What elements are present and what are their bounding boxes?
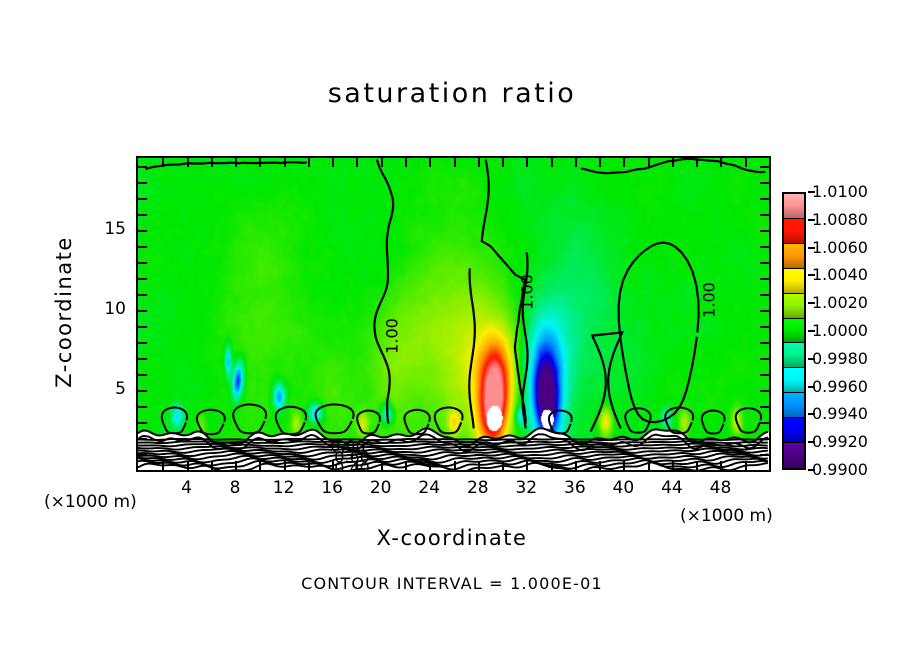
x-axis-tick: [623, 461, 625, 470]
contour-line: [276, 407, 307, 434]
colorbar-tick: [808, 247, 815, 249]
x-axis-tick: [696, 461, 698, 470]
colorbar-tick-label: 1.0080: [812, 210, 868, 229]
y-axis-tick: [760, 166, 769, 168]
y-axis-tick: [138, 310, 147, 312]
colorbar-band: [784, 194, 804, 219]
colorbar-tick-label: 0.9980: [812, 349, 868, 368]
x-tick-label: 44: [649, 478, 695, 498]
x-axis-tick: [720, 158, 722, 167]
contour-label: 1.00: [700, 282, 719, 318]
y-axis-tick: [138, 246, 147, 248]
y-axis-tick: [138, 198, 147, 200]
x-axis-tick: [526, 461, 528, 470]
y-axis-tick: [760, 198, 769, 200]
y-axis-tick: [760, 390, 769, 392]
colorbar-band: [784, 219, 804, 244]
contour-line: [374, 160, 393, 424]
contour-line: [665, 407, 693, 433]
x-axis-tick: [381, 461, 383, 470]
colorbar-tick-label: 0.9960: [812, 377, 868, 396]
y-axis-tick: [760, 342, 769, 344]
colorbar-tick: [808, 191, 815, 193]
x-axis-tick: [696, 158, 698, 167]
contour-line: [138, 428, 768, 446]
x-axis-tick: [211, 158, 213, 167]
y-tick-label: 15: [94, 219, 126, 239]
y-axis-tick: [138, 166, 147, 168]
x-axis-tick: [526, 158, 528, 167]
x-tick-label: 20: [358, 478, 404, 498]
x-axis-tick: [162, 158, 164, 167]
y-axis-title: Z-coordinate: [52, 212, 76, 412]
x-tick-label: 16: [309, 478, 355, 498]
contour-line: [197, 410, 225, 434]
y-axis-tick: [760, 182, 769, 184]
x-units-right: (×1000 m): [680, 506, 773, 526]
contour-line: [549, 411, 572, 434]
contour-line-overlay: [138, 158, 769, 470]
contour-line: [233, 404, 266, 433]
contour-line: [357, 411, 380, 434]
x-axis-tick: [187, 461, 189, 470]
contour-line: [591, 332, 623, 431]
colorbar-band: [784, 294, 804, 319]
x-axis-tick: [454, 158, 456, 167]
y-axis-tick: [760, 294, 769, 296]
x-tick-label: 32: [503, 478, 549, 498]
x-axis-tick: [187, 158, 189, 167]
x-axis-tick: [502, 158, 504, 167]
x-axis-tick: [259, 158, 261, 167]
colorbar-band: [784, 319, 804, 344]
x-axis-tick: [284, 158, 286, 167]
colorbar-tick-label: 0.9920: [812, 432, 868, 451]
y-axis-tick: [138, 342, 147, 344]
contour-line: [702, 411, 725, 434]
contour-line: [145, 162, 306, 169]
x-axis-tick: [308, 461, 310, 470]
x-tick-label: 4: [164, 478, 210, 498]
x-axis-tick: [478, 158, 480, 167]
x-tick-label: 48: [697, 478, 743, 498]
y-axis-tick: [138, 182, 147, 184]
x-axis-tick: [551, 461, 553, 470]
y-axis-tick: [760, 230, 769, 232]
colorbar-tick: [808, 386, 815, 388]
colorbar-tick-label: 1.0060: [812, 238, 868, 257]
y-axis-tick: [138, 326, 147, 328]
contour-plot-area[interactable]: 1.001.001.000.800.600.40: [136, 156, 771, 472]
x-tick-label: 24: [406, 478, 452, 498]
colorbar-band: [784, 269, 804, 294]
colorbar-tick: [808, 441, 815, 443]
y-axis-tick: [760, 422, 769, 424]
y-axis-tick: [138, 230, 147, 232]
contour-line: [162, 407, 187, 433]
y-axis-tick: [760, 438, 769, 440]
contour-line: [619, 243, 699, 423]
page-title: saturation ratio: [0, 78, 904, 109]
x-axis-tick: [745, 158, 747, 167]
x-axis-tick: [405, 158, 407, 167]
colorbar-tick-label: 0.9940: [812, 404, 868, 423]
x-axis-tick: [381, 158, 383, 167]
y-axis-tick: [138, 390, 147, 392]
colorbar-tick: [808, 302, 815, 304]
x-axis-tick: [405, 461, 407, 470]
contour-line: [316, 404, 354, 433]
colorbar[interactable]: [782, 192, 806, 470]
y-tick-label: 5: [94, 379, 126, 399]
x-axis-tick: [745, 461, 747, 470]
y-axis-tick: [138, 262, 147, 264]
x-axis-tick: [575, 158, 577, 167]
x-axis-tick: [429, 158, 431, 167]
x-axis-tick: [284, 461, 286, 470]
colorbar-band: [784, 368, 804, 393]
y-axis-tick: [138, 294, 147, 296]
colorbar-tick-label: 1.0100: [812, 182, 868, 201]
y-axis-tick: [760, 246, 769, 248]
x-tick-label: 40: [600, 478, 646, 498]
x-axis-tick: [235, 461, 237, 470]
y-axis-tick: [138, 422, 147, 424]
y-axis-tick: [760, 262, 769, 264]
x-tick-label: 36: [552, 478, 598, 498]
x-axis-tick: [332, 158, 334, 167]
x-units-left: (×1000 m): [44, 492, 137, 512]
colorbar-tick: [808, 219, 815, 221]
x-axis-tick: [308, 158, 310, 167]
colorbar-tick: [808, 469, 815, 471]
colorbar-band: [784, 244, 804, 269]
colorbar-band: [784, 443, 804, 468]
x-tick-label: 12: [261, 478, 307, 498]
x-axis-tick: [429, 461, 431, 470]
colorbar-band: [784, 393, 804, 418]
y-axis-tick: [138, 454, 147, 456]
x-tick-label: 8: [212, 478, 258, 498]
x-axis-tick: [599, 158, 601, 167]
y-axis-tick: [760, 326, 769, 328]
colorbar-tick-label: 1.0040: [812, 265, 868, 284]
y-axis-tick: [138, 374, 147, 376]
x-axis-tick: [478, 461, 480, 470]
x-axis-tick: [575, 461, 577, 470]
x-axis-tick: [672, 158, 674, 167]
y-axis-tick: [760, 214, 769, 216]
contour-line: [736, 408, 761, 432]
y-axis-tick: [138, 358, 147, 360]
y-axis-tick: [760, 278, 769, 280]
colorbar-tick: [808, 330, 815, 332]
colorbar-band: [784, 418, 804, 443]
x-axis-tick: [720, 461, 722, 470]
contour-line: [404, 410, 429, 434]
x-tick-label: 28: [455, 478, 501, 498]
contour-interval-caption: CONTOUR INTERVAL = 1.000E-01: [0, 574, 904, 593]
y-axis-tick: [760, 454, 769, 456]
contour-line: [435, 407, 463, 433]
contour-line: [469, 268, 475, 428]
colorbar-tick: [808, 413, 815, 415]
y-tick-label: 10: [94, 299, 126, 319]
x-axis-tick: [356, 158, 358, 167]
x-axis-tick: [259, 461, 261, 470]
contour-label: 0.40: [334, 459, 370, 473]
x-axis-tick: [648, 461, 650, 470]
colorbar-tick: [808, 274, 815, 276]
x-axis-tick: [454, 461, 456, 470]
x-axis-tick: [551, 158, 553, 167]
x-axis-tick: [235, 158, 237, 167]
x-axis-tick: [623, 158, 625, 167]
colorbar-tick-label: 1.0020: [812, 293, 868, 312]
y-axis-tick: [138, 438, 147, 440]
colorbar-tick-label: 0.9900: [812, 460, 868, 479]
x-axis-tick: [162, 461, 164, 470]
y-axis-tick: [138, 406, 147, 408]
x-axis-tick: [502, 461, 504, 470]
y-axis-tick: [138, 214, 147, 216]
colorbar-tick-label: 1.0000: [812, 321, 868, 340]
y-axis-tick: [760, 358, 769, 360]
y-axis-tick: [138, 278, 147, 280]
x-axis-tick: [672, 461, 674, 470]
y-axis-tick: [760, 374, 769, 376]
x-axis-tick: [211, 461, 213, 470]
x-axis-tick: [648, 158, 650, 167]
colorbar-band: [784, 343, 804, 368]
colorbar-tick: [808, 358, 815, 360]
x-axis-tick: [599, 461, 601, 470]
x-axis-title: X-coordinate: [0, 526, 904, 550]
contour-label: 1.00: [518, 274, 537, 310]
y-axis-tick: [760, 406, 769, 408]
contour-label: 1.00: [383, 318, 402, 354]
y-axis-tick: [760, 310, 769, 312]
